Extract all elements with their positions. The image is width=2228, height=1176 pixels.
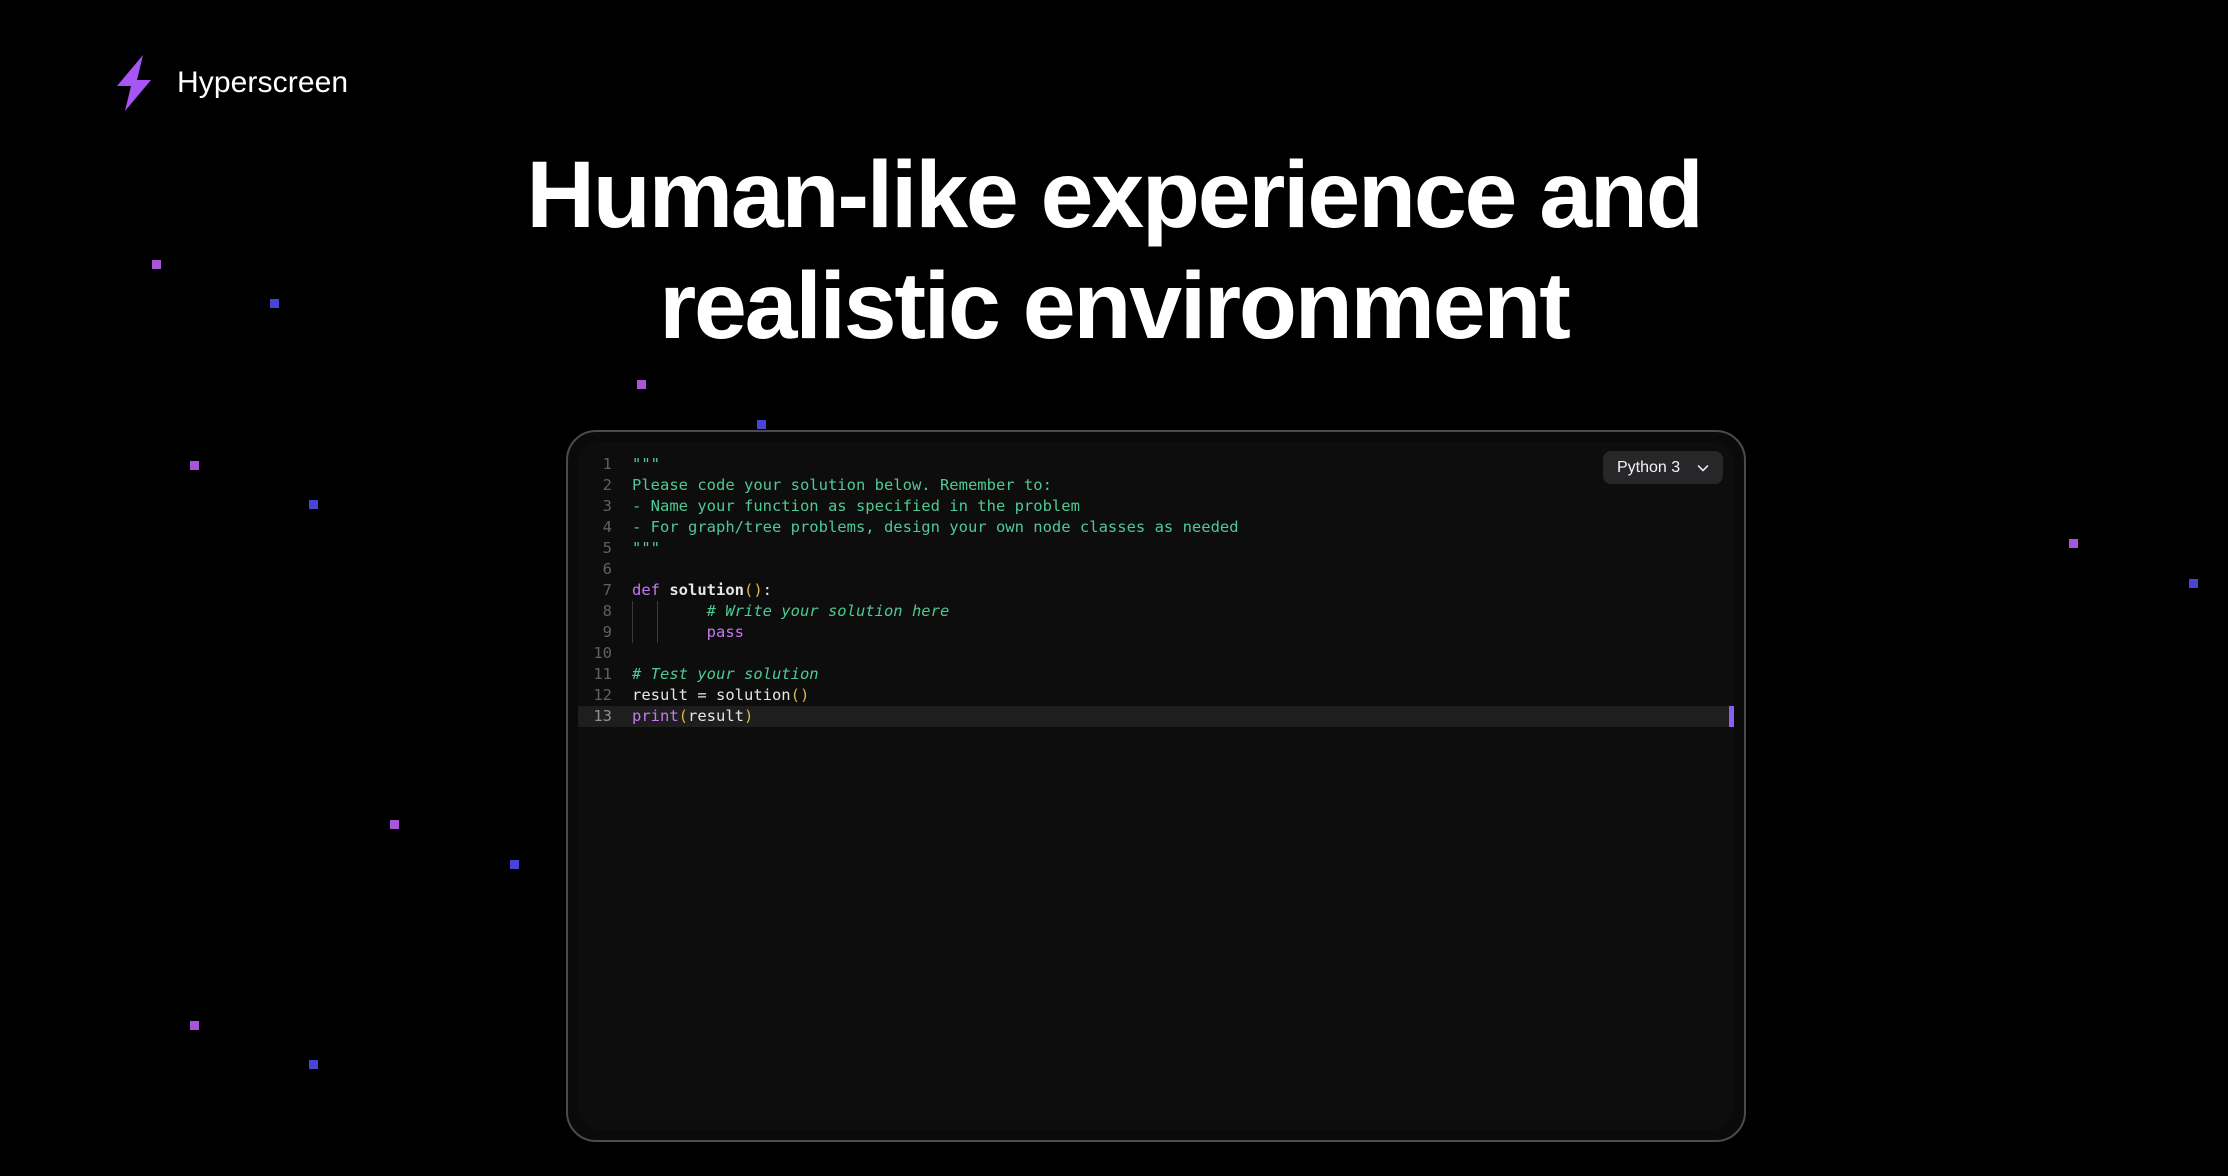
code-content[interactable]: 1"""2Please code your solution below. Re… xyxy=(578,454,1734,1130)
code-line[interactable]: 7def solution(): xyxy=(578,580,1734,601)
particle-dot xyxy=(309,500,318,509)
code-line[interactable]: 4- For graph/tree problems, design your … xyxy=(578,517,1734,538)
line-number: 1 xyxy=(578,454,630,475)
line-number: 6 xyxy=(578,559,630,580)
line-number: 10 xyxy=(578,643,630,664)
indent-guide xyxy=(657,622,658,643)
particle-dot xyxy=(190,461,199,470)
chevron-down-icon xyxy=(1695,460,1711,476)
particle-dot xyxy=(190,1021,199,1030)
page-title-line-1: Human-like experience and xyxy=(200,140,2028,251)
line-number: 2 xyxy=(578,475,630,496)
code-line[interactable]: 6 xyxy=(578,559,1734,580)
indent-guide xyxy=(632,622,633,643)
code-line[interactable]: 2Please code your solution below. Rememb… xyxy=(578,475,1734,496)
line-number: 7 xyxy=(578,580,630,601)
code-line-text: # Write your solution here xyxy=(630,601,1734,622)
code-line-text: """ xyxy=(630,454,1734,475)
code-editor[interactable]: Python 3 1"""2Please code your solution … xyxy=(578,442,1734,1130)
code-line-text: Please code your solution below. Remembe… xyxy=(630,475,1734,496)
code-line[interactable]: 13print(result) xyxy=(578,706,1734,727)
landing-page: Hyperscreen Human-like experience and re… xyxy=(0,0,2228,1176)
line-number: 4 xyxy=(578,517,630,538)
code-line-text: print(result) xyxy=(630,706,1734,727)
code-line[interactable]: 5""" xyxy=(578,538,1734,559)
particle-dot xyxy=(637,380,646,389)
line-number: 3 xyxy=(578,496,630,517)
indent-guide xyxy=(632,601,633,622)
line-number: 11 xyxy=(578,664,630,685)
language-select[interactable]: Python 3 xyxy=(1603,451,1723,484)
code-line[interactable]: 9 pass xyxy=(578,622,1734,643)
page-title: Human-like experience and realistic envi… xyxy=(0,140,2228,362)
line-number: 12 xyxy=(578,685,630,706)
code-line[interactable]: 11# Test your solution xyxy=(578,664,1734,685)
code-line[interactable]: 12result = solution() xyxy=(578,685,1734,706)
code-line[interactable]: 3- Name your function as specified in th… xyxy=(578,496,1734,517)
line-number: 5 xyxy=(578,538,630,559)
code-line-text: pass xyxy=(630,622,1734,643)
code-line[interactable]: 10 xyxy=(578,643,1734,664)
code-line-text: result = solution() xyxy=(630,685,1734,706)
code-line-text: - Name your function as specified in the… xyxy=(630,496,1734,517)
particle-dot xyxy=(390,820,399,829)
line-number: 8 xyxy=(578,601,630,622)
particle-dot xyxy=(2189,579,2198,588)
brand-logo-group: Hyperscreen xyxy=(113,55,348,111)
code-line-text: def solution(): xyxy=(630,580,1734,601)
brand-name: Hyperscreen xyxy=(177,68,348,98)
lightning-bolt-icon xyxy=(113,55,155,111)
particle-dot xyxy=(757,420,766,429)
device-frame: Python 3 1"""2Please code your solution … xyxy=(566,430,1746,1142)
particle-dot xyxy=(2069,539,2078,548)
line-number: 13 xyxy=(578,706,630,727)
particle-dot xyxy=(510,860,519,869)
code-line[interactable]: 1""" xyxy=(578,454,1734,475)
particle-dot xyxy=(309,1060,318,1069)
code-line-text: """ xyxy=(630,538,1734,559)
indent-guide xyxy=(657,601,658,622)
language-select-value: Python 3 xyxy=(1617,460,1680,476)
page-title-line-2: realistic environment xyxy=(200,251,2028,362)
code-line-text: # Test your solution xyxy=(630,664,1734,685)
code-line-text: - For graph/tree problems, design your o… xyxy=(630,517,1734,538)
code-line[interactable]: 8 # Write your solution here xyxy=(578,601,1734,622)
line-number: 9 xyxy=(578,622,630,643)
